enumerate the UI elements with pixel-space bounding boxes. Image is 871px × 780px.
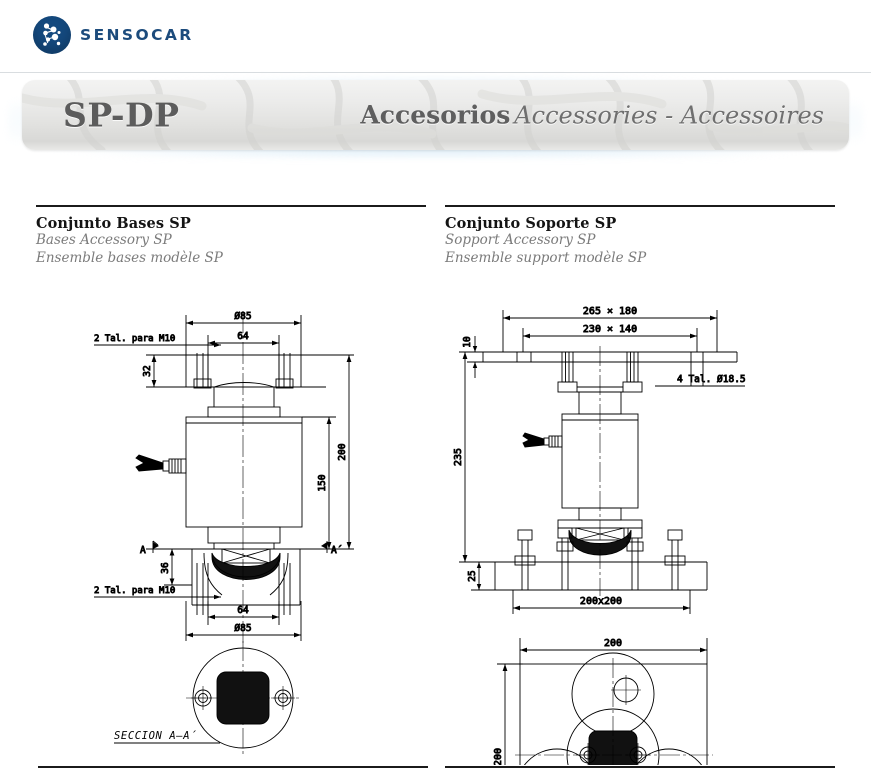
section-mark-a-prime: A´ bbox=[331, 545, 342, 556]
sensocar-molecule-logo-icon bbox=[33, 16, 71, 54]
dim-cell-height: 150 bbox=[317, 474, 328, 491]
brand-logo: SENSOCAR bbox=[33, 16, 194, 54]
logo-bar: SENSOCAR bbox=[0, 0, 871, 72]
note-plate-holes: 4 Tal. Ø18.5 bbox=[677, 374, 746, 385]
dim-plan-height: 200 bbox=[493, 748, 504, 765]
footer-rule-right bbox=[445, 766, 835, 768]
page-title-translations: Accessories - Accessoires bbox=[514, 102, 824, 130]
page-title-es: Accesorios bbox=[360, 101, 510, 130]
section-title-es: Conjunto Bases SP bbox=[36, 215, 426, 232]
section-rule bbox=[445, 205, 835, 207]
logo-divider bbox=[0, 72, 871, 73]
dim-base-height: 36 bbox=[160, 562, 171, 574]
title-band: SP-DP Accesorios Accessories - Accessoir… bbox=[22, 80, 849, 150]
page-title-group: Accesorios Accessories - Accessoires bbox=[360, 101, 824, 130]
dim-top-plate-outer: 265 × 180 bbox=[583, 306, 637, 317]
dim-base-plate-size: 200x200 bbox=[580, 596, 622, 607]
dim-top-flange-height: 32 bbox=[142, 365, 153, 376]
section-title-en: Bases Accessory SP bbox=[36, 232, 426, 250]
section-heading-soporte: Conjunto Soporte SP Sopport Accessory SP… bbox=[445, 205, 835, 268]
dim-base-plate-thickness: 25 bbox=[467, 570, 478, 581]
brand-name: SENSOCAR bbox=[80, 26, 194, 44]
section-view-label: SECCION A–A´ bbox=[114, 730, 197, 742]
note-top-holes: 2 Tal. para M10 bbox=[94, 334, 175, 344]
page-title-model: SP-DP bbox=[63, 96, 179, 135]
conjunto-bases-sp-drawing: Ø85 64 2 Tal. para M10 3 bbox=[36, 295, 426, 770]
section-heading-bases: Conjunto Bases SP Bases Accessory SP Ens… bbox=[36, 205, 426, 268]
section-title-fr: Ensemble support modèle SP bbox=[445, 250, 835, 268]
section-title-fr: Ensemble bases modèle SP bbox=[36, 250, 426, 268]
section-title-es: Conjunto Soporte SP bbox=[445, 215, 835, 232]
section-title-en: Sopport Accessory SP bbox=[445, 232, 835, 250]
section-rule bbox=[36, 205, 426, 207]
note-bottom-holes: 2 Tal. para M10 bbox=[94, 586, 175, 596]
footer-rule-left bbox=[38, 766, 428, 768]
dim-total-height: 200 bbox=[337, 443, 348, 460]
dim-plan-width: 200 bbox=[604, 638, 622, 649]
conjunto-soporte-sp-drawing: 265 × 180 230 × 140 10 4 Tal. Ø18.5 bbox=[445, 290, 840, 770]
dim-top-plate-bolts: 230 × 140 bbox=[583, 324, 637, 335]
dim-total-height: 235 bbox=[453, 448, 464, 466]
section-mark-a: A bbox=[140, 545, 146, 556]
dim-top-plate-thickness: 10 bbox=[462, 336, 473, 348]
